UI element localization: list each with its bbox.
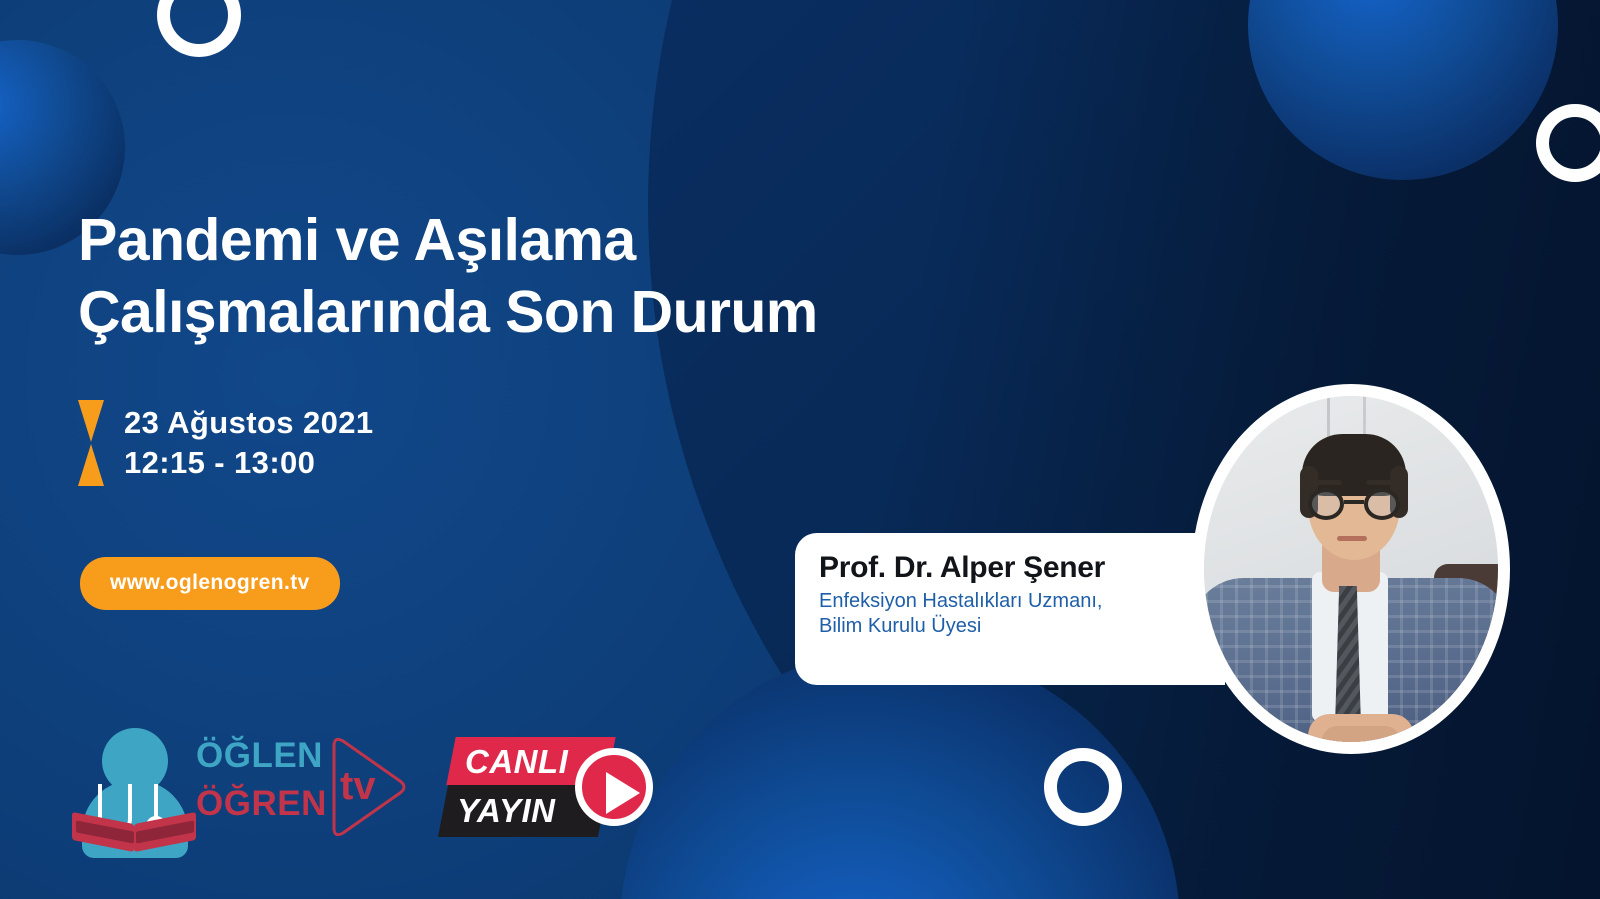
event-title-line1: Pandemi ve Aşılama — [78, 205, 1118, 277]
decorative-ring-bottom — [1044, 748, 1122, 826]
speaker-title: Enfeksiyon Hastalıkları Uzmanı, Bilim Ku… — [819, 589, 1205, 639]
brand-logo[interactable]: ÖĞLEN ÖĞREN tv — [74, 722, 404, 850]
event-date: 23 Ağustos 2021 — [124, 403, 374, 443]
live-badge-line1: CANLI — [465, 743, 568, 781]
event-time: 12:15 - 13:00 — [124, 443, 374, 483]
speaker-title-line2: Bilim Kurulu Üyesi — [819, 614, 1205, 639]
speaker-name: Prof. Dr. Alper Şener — [819, 551, 1205, 584]
play-icon — [606, 772, 640, 814]
stethoscope-tube-icon — [154, 784, 158, 820]
webinar-banner: Pandemi ve Aşılama Çalışmalarında Son Du… — [0, 0, 1600, 899]
speaker-title-line1: Enfeksiyon Hastalıkları Uzmanı, — [819, 589, 1205, 614]
play-button[interactable] — [575, 748, 653, 826]
event-datetime: 23 Ağustos 2021 12:15 - 13:00 — [78, 400, 374, 486]
live-broadcast-badge: CANLI YAYIN — [443, 735, 673, 840]
logo-tv-mark: tv — [324, 732, 408, 842]
logo-word-top: ÖĞLEN — [196, 736, 323, 776]
event-datetime-text: 23 Ağustos 2021 12:15 - 13:00 — [124, 403, 374, 482]
event-title: Pandemi ve Aşılama Çalışmalarında Son Du… — [78, 205, 1118, 349]
hourglass-icon — [78, 400, 104, 486]
website-button[interactable]: www.oglenogren.tv — [80, 557, 340, 610]
live-badge-line2: YAYIN — [457, 792, 555, 830]
event-title-line2: Çalışmalarında Son Durum — [78, 277, 1118, 349]
speaker-photo — [1192, 384, 1510, 754]
logo-tv-text: tv — [340, 764, 376, 809]
speaker-card: Prof. Dr. Alper Şener Enfeksiyon Hastalı… — [795, 533, 1225, 685]
logo-word-bottom: ÖĞREN — [196, 784, 327, 824]
